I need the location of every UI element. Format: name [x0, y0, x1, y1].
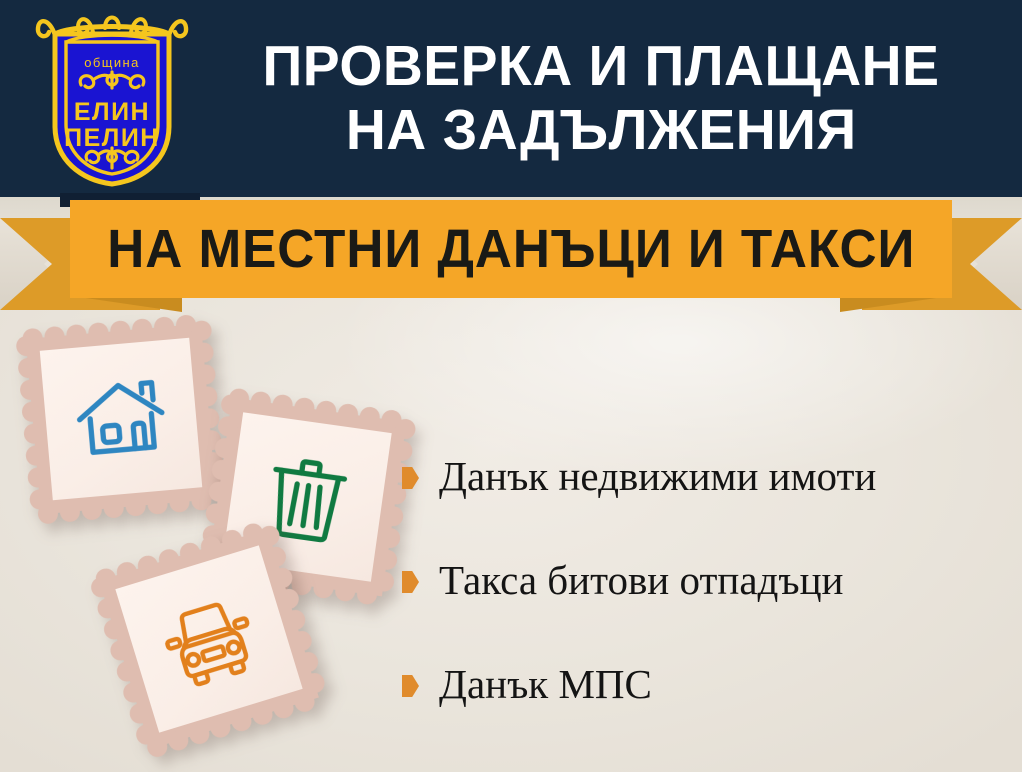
ribbon-banner: НА МЕСТНИ ДАНЪЦИ И ТАКСИ	[70, 200, 952, 298]
house-icon	[40, 338, 203, 501]
svg-text:ЕЛИН: ЕЛИН	[74, 98, 150, 126]
arrow-bullet-icon	[402, 467, 419, 489]
arrow-bullet-icon	[402, 571, 419, 593]
ribbon-label: НА МЕСТНИ ДАНЪЦИ И ТАКСИ	[107, 218, 915, 280]
stamp-card-house	[14, 312, 229, 527]
title-line-1: ПРОВЕРКА И ПЛАЩАНЕ	[263, 35, 940, 99]
list-item[interactable]: Данък недвижими имоти	[402, 424, 1012, 528]
list-item[interactable]: Данък МПС	[402, 632, 1012, 736]
arrow-bullet-icon	[402, 675, 419, 697]
poster-title: ПРОВЕРКА И ПЛАЩАНЕ НА ЗАДЪЛЖЕНИЯ	[196, 16, 1006, 181]
list-item-label: Данък недвижими имоти	[439, 456, 876, 497]
list-item-label: Такса битови отпадъци	[439, 560, 843, 601]
municipality-crest-logo: община ЕЛИН ПЕЛИН	[33, 8, 191, 190]
subtitle-ribbon: НА МЕСТНИ ДАНЪЦИ И ТАКСИ	[0, 196, 1022, 311]
list-item[interactable]: Такса битови отпадъци	[402, 528, 1012, 632]
svg-text:община: община	[84, 55, 139, 70]
poster-root: община ЕЛИН ПЕЛИН ПРОВЕРКА И ПЛАЩ	[0, 0, 1022, 772]
tax-type-list: Данък недвижими имоти Такса битови отпад…	[402, 424, 1012, 736]
list-item-label: Данък МПС	[439, 664, 652, 705]
title-line-2: НА ЗАДЪЛЖЕНИЯ	[346, 99, 857, 163]
